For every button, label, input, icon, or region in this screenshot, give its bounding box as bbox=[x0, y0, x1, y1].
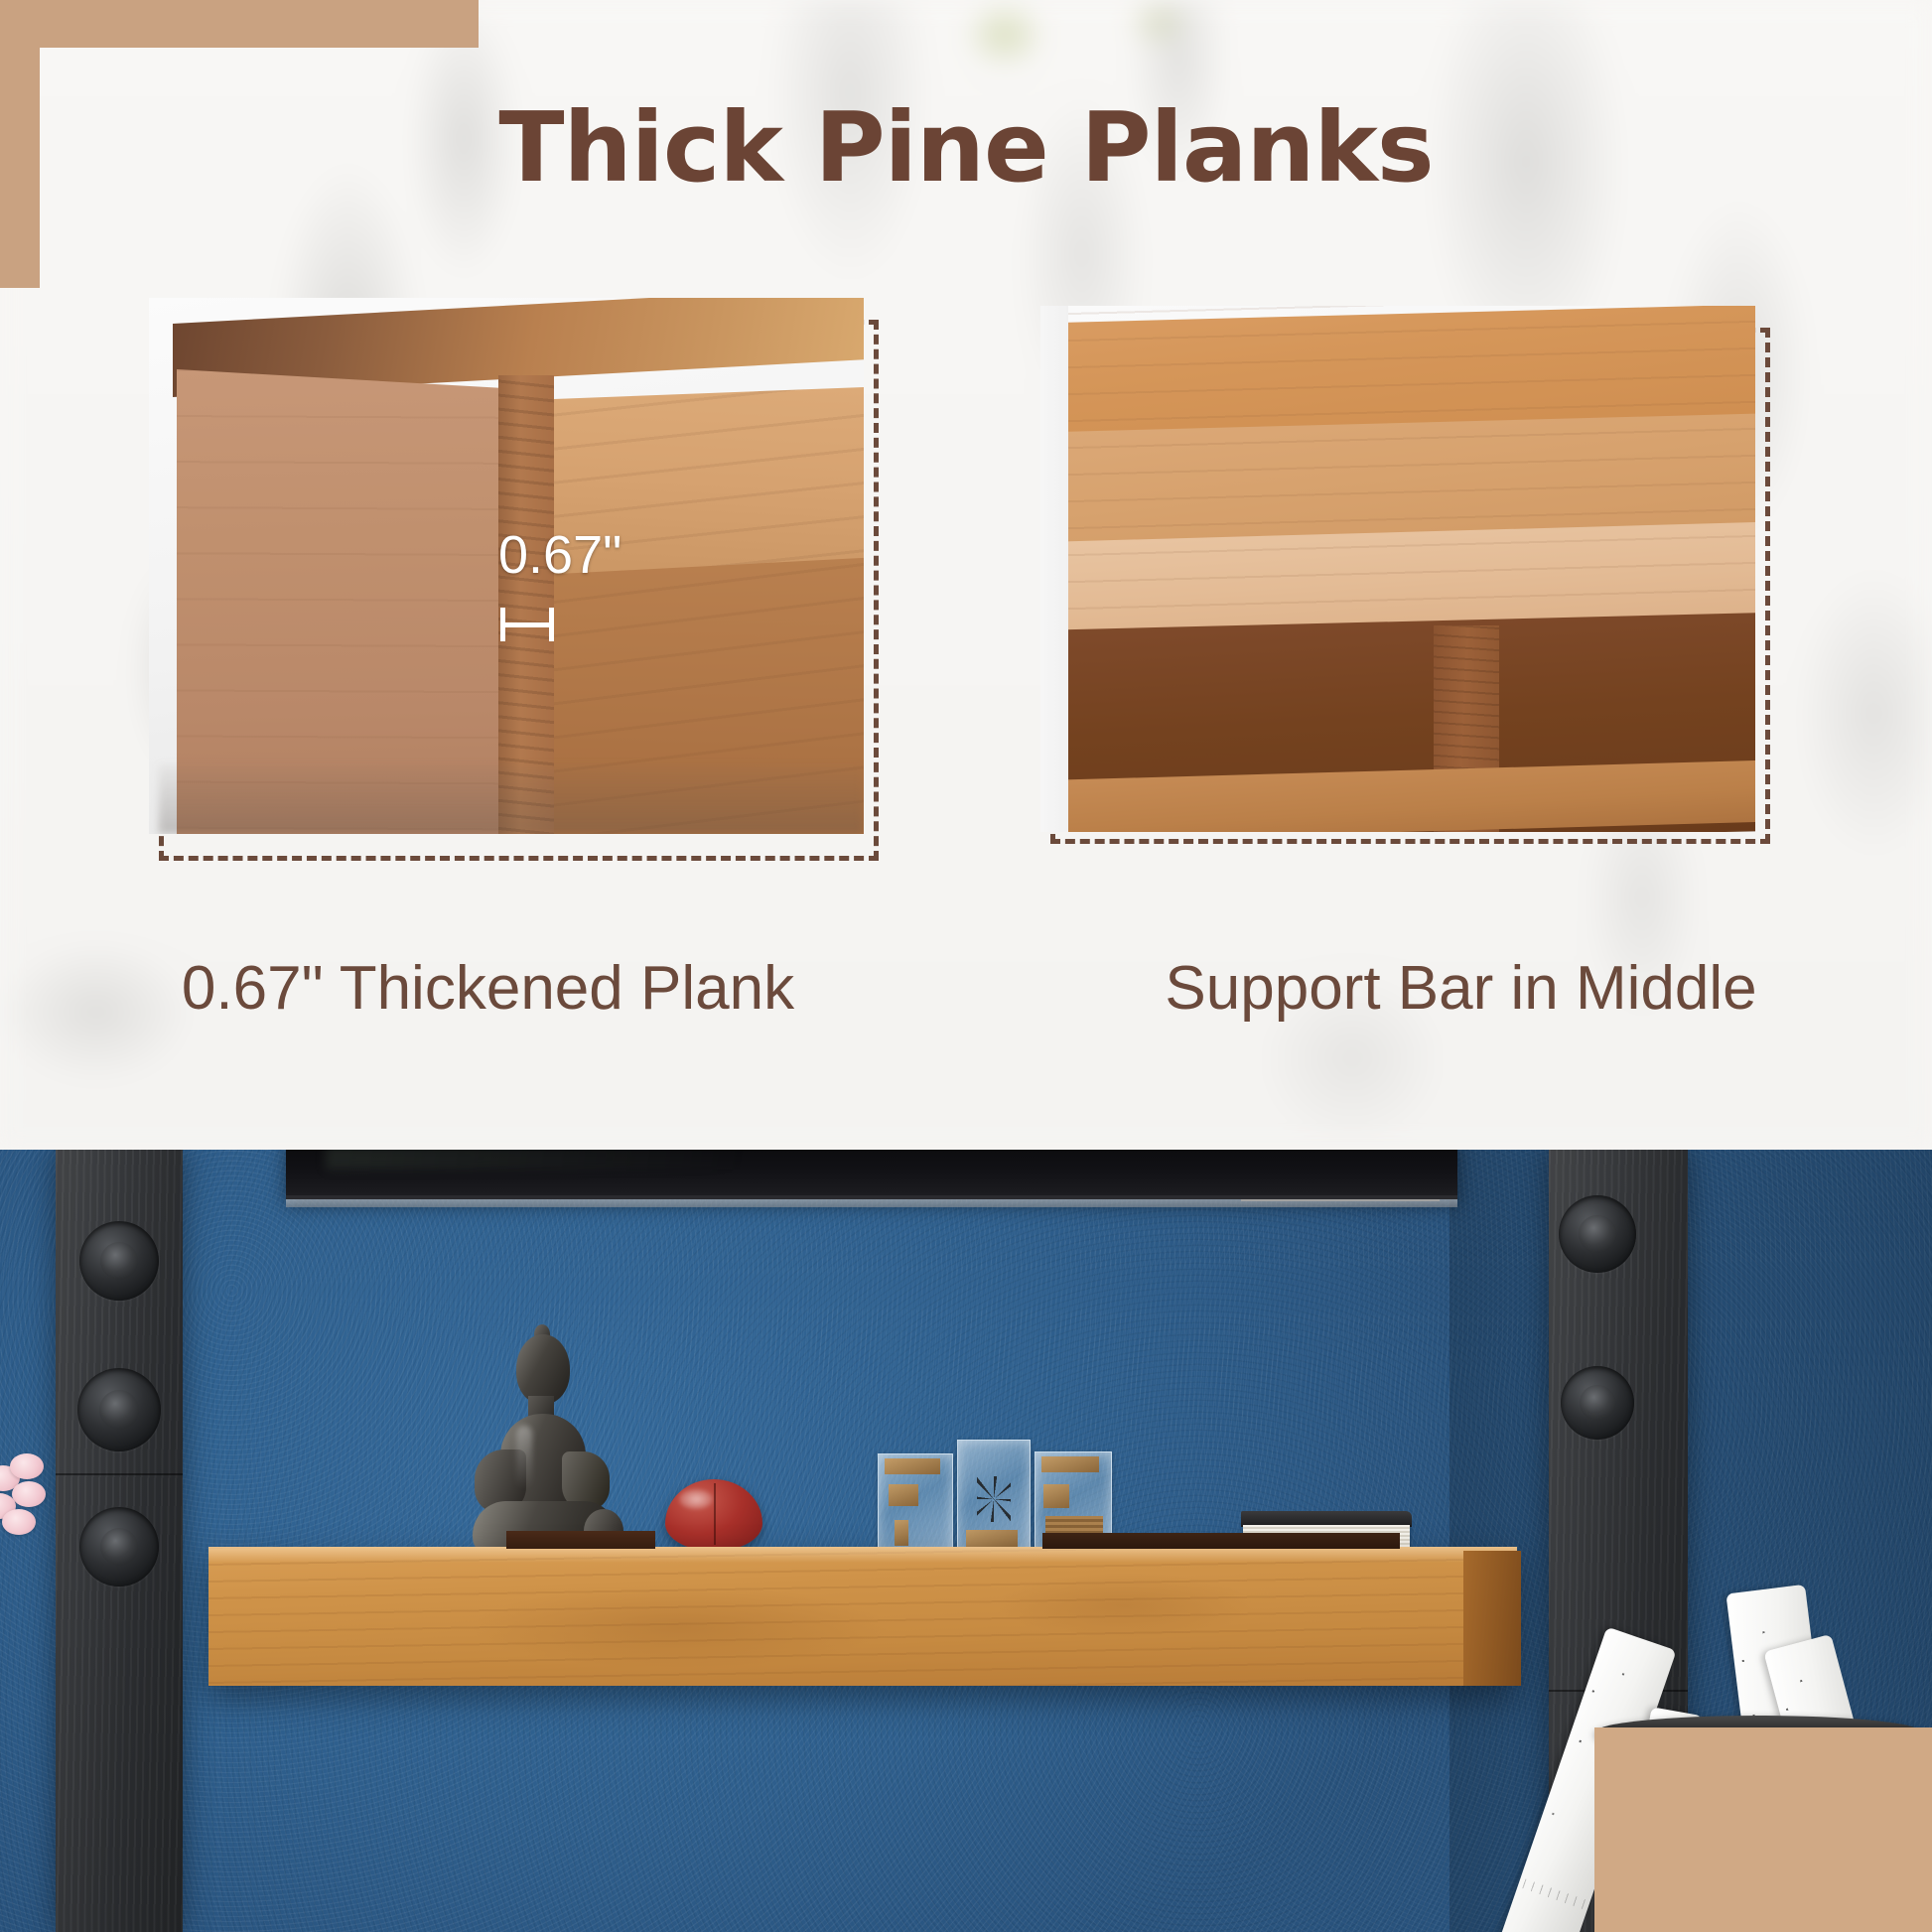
crystal-wood-inlay bbox=[1043, 1484, 1069, 1508]
floating-wood-shelf bbox=[208, 1547, 1517, 1686]
crystal-wood-inlay bbox=[966, 1530, 1018, 1548]
shelf-back-reveal-middle bbox=[1042, 1533, 1400, 1549]
shelf-top-highlight bbox=[208, 1547, 1517, 1563]
statue-head bbox=[516, 1334, 570, 1404]
corner-bracket-top-accent bbox=[0, 0, 479, 48]
feature-caption-right: Support Bar in Middle bbox=[966, 953, 1932, 1024]
top-feature-panel: Thick Pine Planks bbox=[0, 0, 1932, 1150]
speaker-driver-top bbox=[79, 1221, 159, 1301]
crystal-wood-inlay bbox=[1041, 1456, 1099, 1472]
feature-caption-left: 0.67" Thickened Plank bbox=[0, 953, 966, 1024]
wall-mounted-tv bbox=[286, 1150, 1457, 1199]
speaker-driver-lower-right bbox=[1561, 1366, 1634, 1440]
cherry-blossom-sprig bbox=[0, 1448, 71, 1557]
driver-dome bbox=[1580, 1385, 1615, 1421]
feature-card-thickened-plank: 0.67" bbox=[149, 298, 889, 854]
blossom-petal bbox=[2, 1509, 36, 1535]
speaker-driver-upper-right bbox=[1559, 1195, 1636, 1273]
product-photo-support-bar bbox=[1040, 306, 1755, 832]
tv-bottom-edge bbox=[286, 1199, 1457, 1207]
floor-shadow bbox=[159, 764, 864, 834]
tv-screen-reflection bbox=[326, 1150, 743, 1170]
driver-dome bbox=[1579, 1215, 1615, 1252]
speaker-driver-middle bbox=[77, 1368, 161, 1451]
driver-dome bbox=[100, 1528, 138, 1566]
corner-block-bottom-right-accent bbox=[1594, 1727, 1932, 1932]
crystal-star-inclusion bbox=[977, 1476, 1011, 1522]
crystal-block-center bbox=[957, 1440, 1031, 1555]
shelf-right-end-cap bbox=[1463, 1551, 1521, 1686]
feature-cards-row: 0.67" bbox=[0, 298, 1932, 913]
feature-captions-row: 0.67" Thickened Plank Support Bar in Mid… bbox=[0, 953, 1932, 1024]
shelf-back-reveal-left bbox=[506, 1531, 655, 1549]
buddha-statue bbox=[459, 1334, 625, 1555]
page-title: Thick Pine Planks bbox=[0, 91, 1932, 204]
driver-dome bbox=[99, 1390, 139, 1430]
speaker-panel-seam bbox=[56, 1473, 183, 1475]
shelf-wood-grain bbox=[208, 1547, 1517, 1686]
dimension-callout-label: 0.67" bbox=[498, 524, 621, 586]
blossom-petal bbox=[12, 1481, 46, 1507]
crystal-wood-inlay bbox=[895, 1520, 908, 1546]
feature-card-support-bar bbox=[1040, 298, 1780, 854]
ornament-highlight bbox=[679, 1489, 713, 1509]
blossom-petal bbox=[10, 1453, 44, 1479]
statue-highlight bbox=[516, 1426, 532, 1489]
product-photo-plank-thickness: 0.67" bbox=[149, 298, 864, 834]
driver-dome bbox=[100, 1242, 138, 1280]
crystal-block-left bbox=[878, 1453, 953, 1555]
photo-left-margin bbox=[1040, 306, 1068, 832]
speaker-driver-bottom bbox=[79, 1507, 159, 1587]
dimension-bracket-icon bbox=[500, 608, 554, 641]
speaker-tower-left bbox=[56, 1150, 183, 1932]
crystal-wood-inlay bbox=[885, 1458, 940, 1474]
crystal-wood-inlay bbox=[889, 1484, 918, 1506]
ornament-seam bbox=[714, 1483, 716, 1545]
